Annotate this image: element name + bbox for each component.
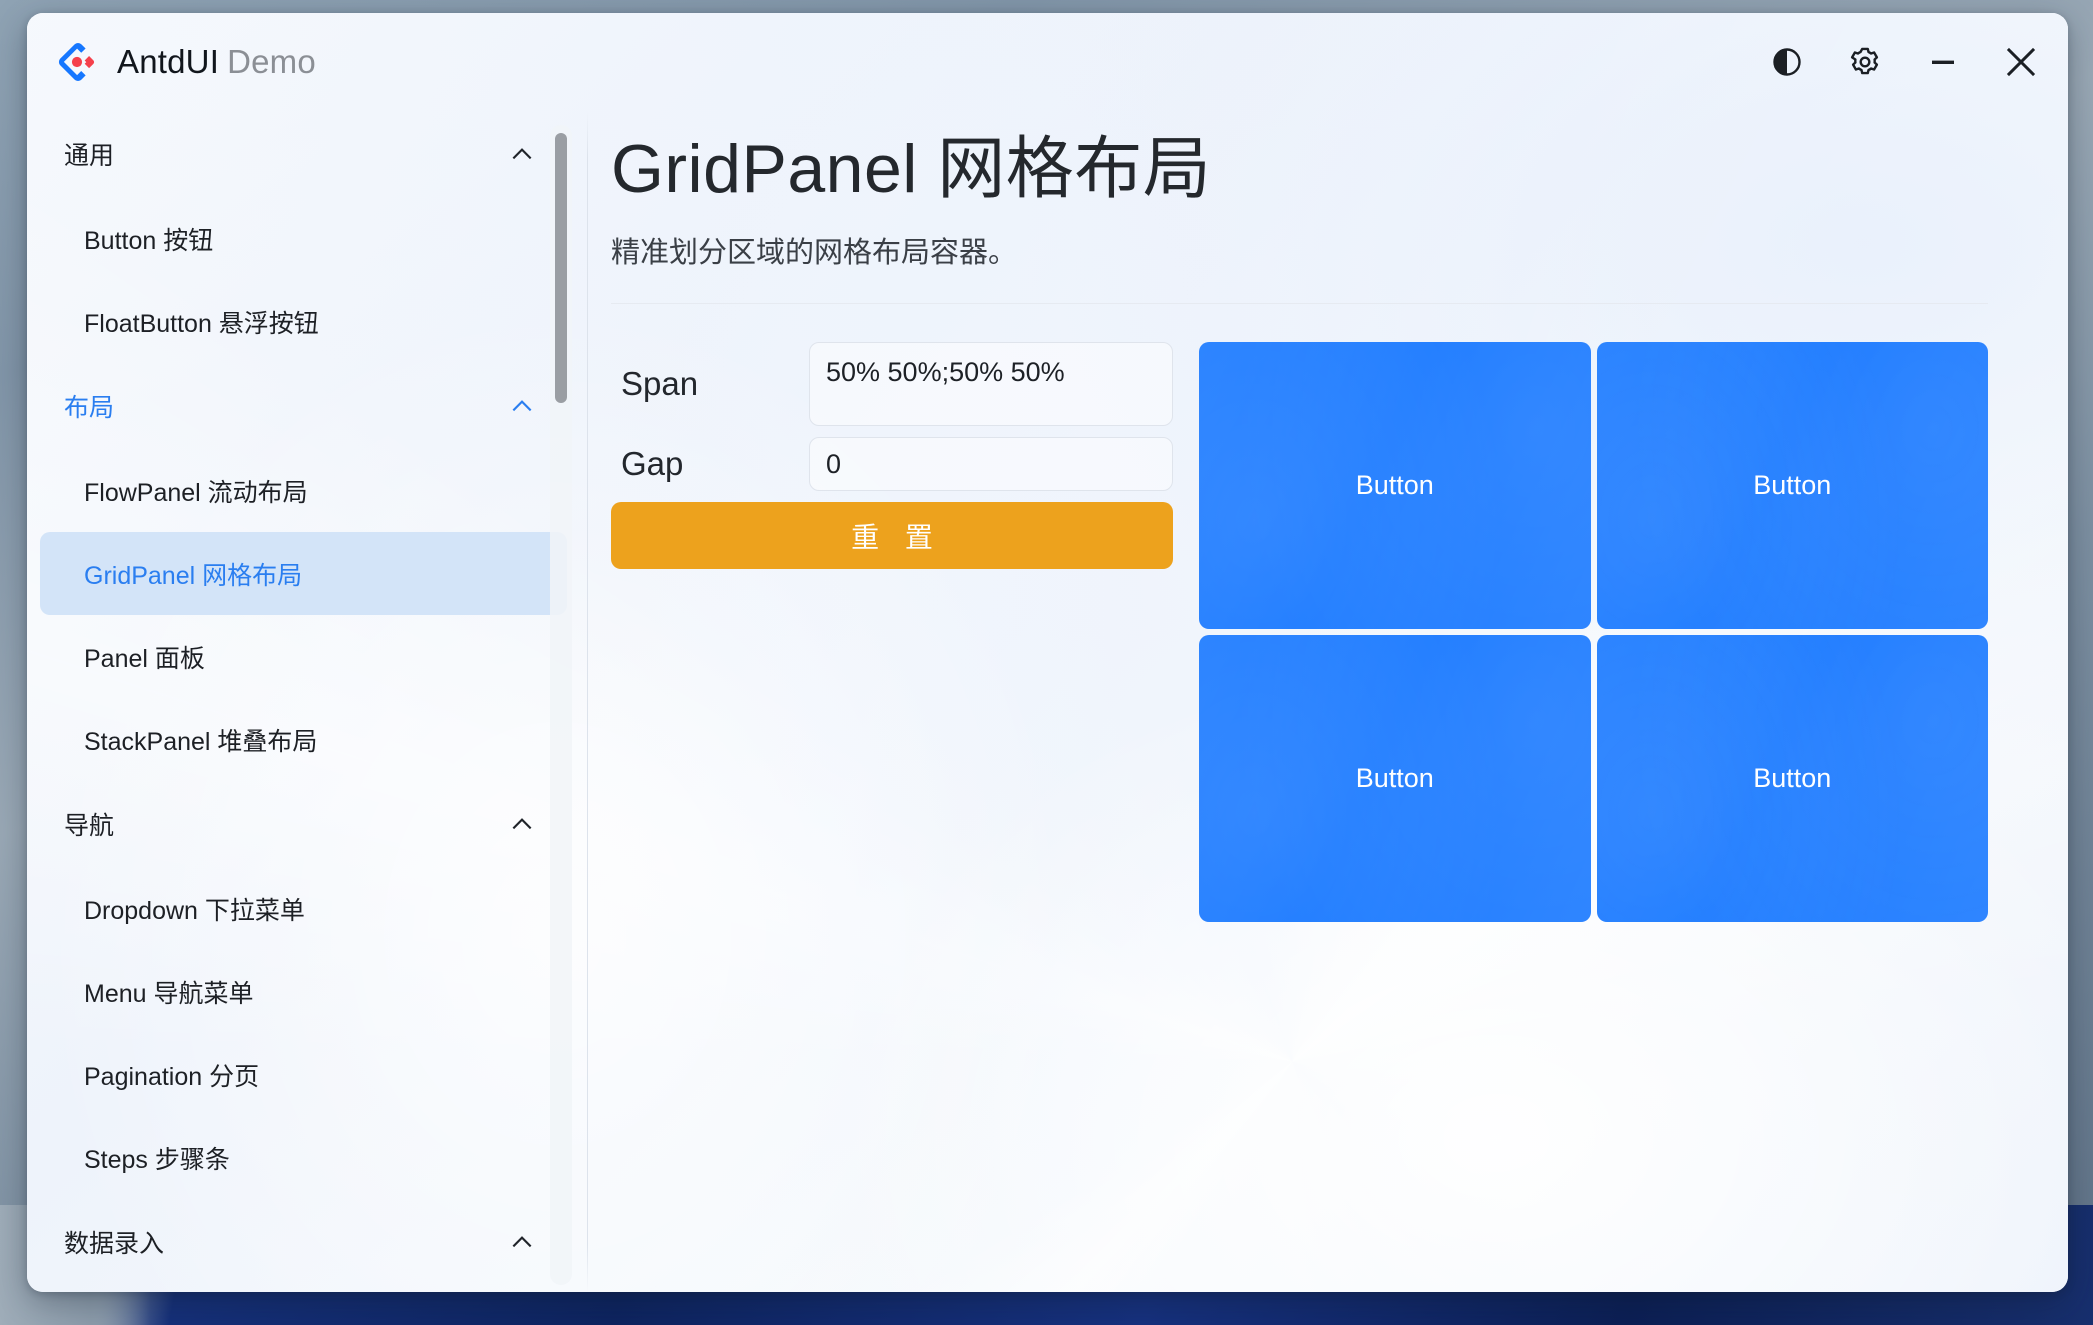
page-title: AntdUIDemo [117, 43, 316, 81]
gap-row: Gap 0 [611, 437, 1173, 491]
minimize-button[interactable] [1904, 26, 1982, 98]
sidebar-group-label: 布局 [64, 388, 509, 424]
button-label: Button [1753, 470, 1831, 501]
sidebar-item-flowpanel[interactable]: FlowPanel 流动布局 [40, 449, 567, 532]
sidebar-item-label: Menu 导航菜单 [84, 974, 253, 1010]
close-icon [2001, 42, 2041, 82]
gap-input[interactable]: 0 [809, 437, 1173, 491]
span-input[interactable]: 50% 50%;50% 50% [809, 342, 1173, 426]
settings-button[interactable] [1826, 26, 1904, 98]
sidebar-scrollbar[interactable] [550, 125, 572, 1285]
span-label: Span [611, 365, 809, 403]
sidebar-item-label: Pagination 分页 [84, 1057, 259, 1093]
button-label: Button [1356, 763, 1434, 794]
sidebar-group-label: 通用 [64, 136, 509, 172]
desktop-backdrop: AntdUIDemo [0, 0, 2093, 1325]
settings-form: Span 50% 50%;50% 50% Gap 0 重 置 [611, 342, 1173, 569]
sidebar-group-label: 数据录入 [64, 1224, 509, 1260]
app-title-dim: Demo [227, 43, 316, 80]
sidebar-item-button[interactable]: Button 按钮 [40, 197, 567, 280]
header-divider [611, 303, 1988, 304]
app-title-strong: AntdUI [117, 43, 219, 80]
sidebar-item-dropdown[interactable]: Dropdown 下拉菜单 [40, 867, 567, 950]
sidebar-scroll-area[interactable]: 通用 Button 按钮 FloatButton 悬浮按钮 布局 [27, 111, 587, 1292]
sidebar-group-general[interactable]: 通用 [27, 111, 587, 197]
reset-button[interactable]: 重 置 [611, 502, 1173, 569]
chevron-up-icon [509, 141, 535, 167]
antd-logo-icon [54, 39, 100, 85]
sidebar-item-label: StackPanel 堆叠布局 [84, 722, 317, 758]
minimize-icon [1925, 44, 1961, 80]
sidebar-item-label: FloatButton 悬浮按钮 [84, 304, 319, 340]
sidebar-item-label: GridPanel 网格布局 [84, 556, 302, 592]
sidebar-group-data-entry[interactable]: 数据录入 [27, 1199, 587, 1285]
grid-cell-button-4[interactable]: Button [1597, 635, 1989, 922]
chevron-up-icon [509, 393, 535, 419]
sidebar-item-pagination[interactable]: Pagination 分页 [40, 1033, 567, 1116]
sidebar-group-label: 导航 [64, 806, 509, 842]
app-window: AntdUIDemo [27, 13, 2068, 1292]
app-brand: AntdUIDemo [54, 39, 316, 85]
gear-icon [1847, 44, 1883, 80]
chevron-up-icon [509, 811, 535, 837]
sidebar-group-navigation[interactable]: 导航 [27, 781, 587, 867]
sidebar-group-layout[interactable]: 布局 [27, 363, 587, 449]
close-button[interactable] [1982, 26, 2060, 98]
grid-cell-button-1[interactable]: Button [1199, 342, 1591, 629]
title-bar[interactable]: AntdUIDemo [27, 13, 2068, 111]
sidebar-item-steps[interactable]: Steps 步骤条 [40, 1116, 567, 1199]
sidebar-item-label: FlowPanel 流动布局 [84, 473, 308, 509]
content-pane: GridPanel 网格布局 精准划分区域的网格布局容器。 Span 50% 5… [588, 111, 2068, 1292]
grid-preview: Button Button Button Button [1199, 342, 1988, 922]
sidebar-item-label: Button 按钮 [84, 221, 213, 257]
demo-area: Span 50% 50%;50% 50% Gap 0 重 置 [611, 342, 1988, 922]
sidebar-item-label: Panel 面板 [84, 639, 205, 675]
button-label: Button [1753, 763, 1831, 794]
sidebar-scrollbar-thumb[interactable] [555, 133, 567, 403]
sidebar: 通用 Button 按钮 FloatButton 悬浮按钮 布局 [27, 111, 587, 1292]
sidebar-item-panel[interactable]: Panel 面板 [40, 615, 567, 698]
button-label: Button [1356, 470, 1434, 501]
span-row: Span 50% 50%;50% 50% [611, 342, 1173, 426]
chevron-up-icon [509, 1229, 535, 1255]
contrast-icon [1769, 44, 1805, 80]
sidebar-item-label: Steps 步骤条 [84, 1140, 230, 1176]
window-body: 通用 Button 按钮 FloatButton 悬浮按钮 布局 [27, 111, 2068, 1292]
sidebar-item-floatbutton[interactable]: FloatButton 悬浮按钮 [40, 280, 567, 363]
sidebar-item-gridpanel[interactable]: GridPanel 网格布局 [40, 532, 567, 615]
page-heading: GridPanel 网格布局 [611, 129, 1988, 209]
gap-label: Gap [611, 445, 809, 483]
sidebar-item-label: Dropdown 下拉菜单 [84, 891, 305, 927]
sidebar-item-stackpanel[interactable]: StackPanel 堆叠布局 [40, 698, 567, 781]
grid-cell-button-2[interactable]: Button [1597, 342, 1989, 629]
page-description: 精准划分区域的网格布局容器。 [611, 229, 1988, 271]
sidebar-item-menu[interactable]: Menu 导航菜单 [40, 950, 567, 1033]
grid-panel: Button Button Button Button [1199, 342, 1988, 922]
grid-cell-button-3[interactable]: Button [1199, 635, 1591, 922]
theme-toggle-button[interactable] [1748, 26, 1826, 98]
window-controls [1748, 26, 2068, 98]
